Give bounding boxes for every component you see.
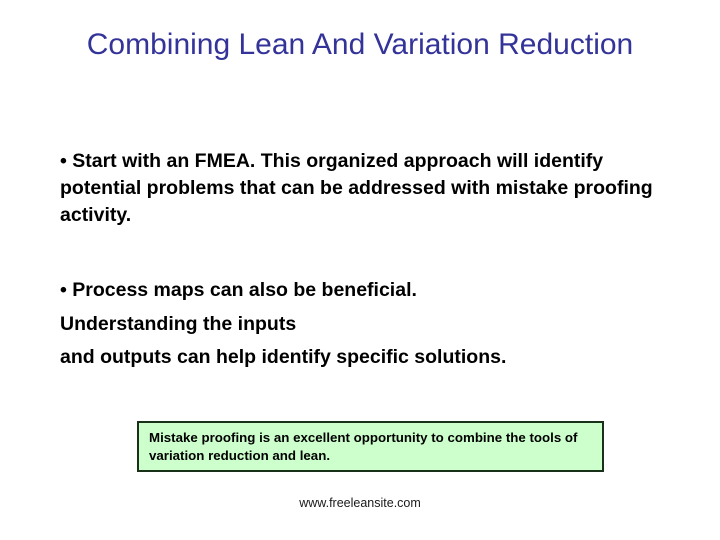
slide-canvas: Combining Lean And Variation Reduction •… [0, 0, 720, 540]
callout-box: Mistake proofing is an excellent opportu… [137, 421, 604, 472]
body-content: • Start with an FMEA. This organized app… [60, 148, 670, 229]
bullet-paragraph-1: • Start with an FMEA. This organized app… [60, 148, 655, 229]
bullet-paragraph-2-line-1: • Process maps can also be beneficial. [60, 274, 680, 308]
body-content-secondary: • Process maps can also be beneficial. U… [60, 274, 680, 375]
footer-website: www.freeleansite.com [0, 495, 720, 511]
bullet-paragraph-2-line-3: and outputs can help identify specific s… [60, 341, 680, 375]
page-title: Combining Lean And Variation Reduction [60, 26, 660, 63]
bullet-paragraph-2-line-2: Understanding the inputs [60, 308, 680, 342]
callout-text: Mistake proofing is an excellent opportu… [149, 429, 597, 464]
